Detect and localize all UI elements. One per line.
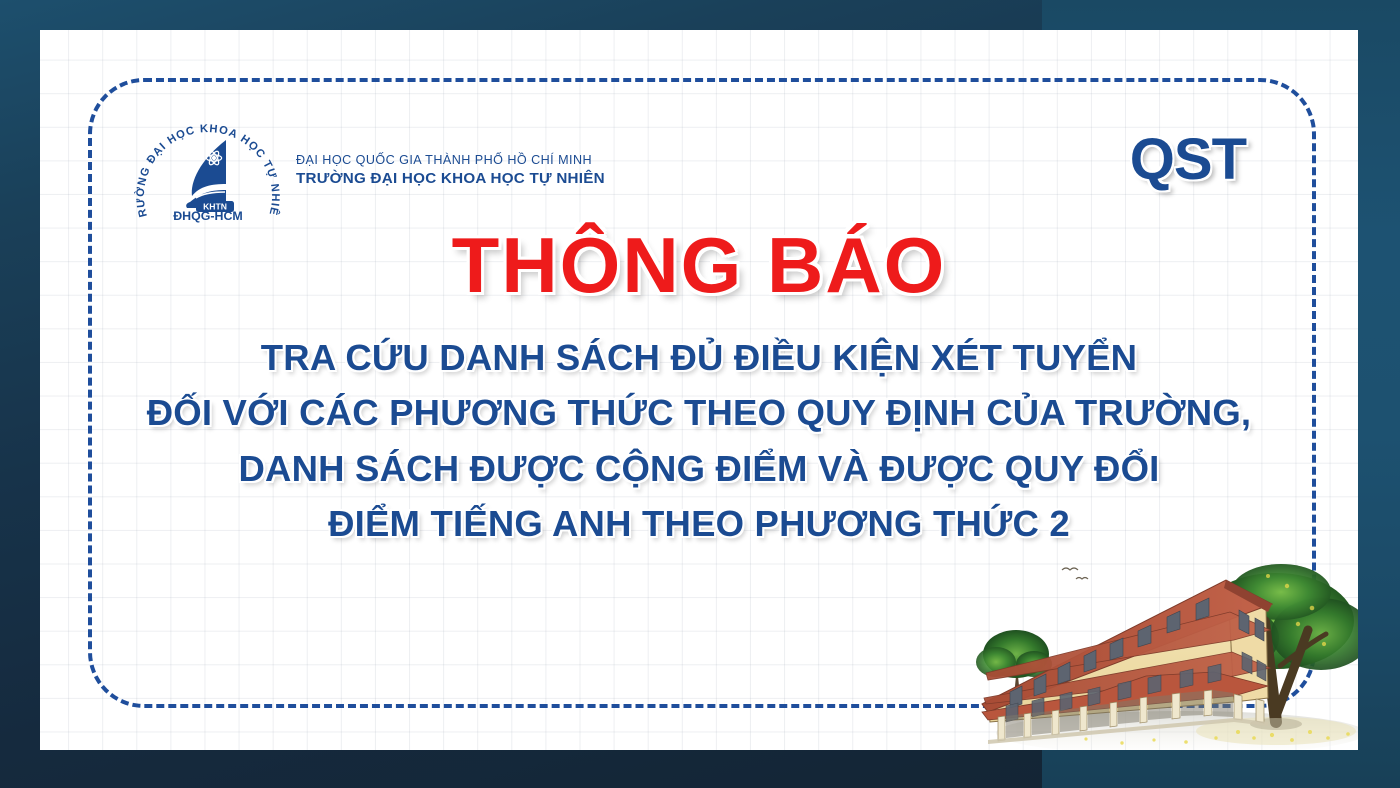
subtitle-line-2: ĐỐI VỚI CÁC PHƯƠNG THỨC THEO QUY ĐỊNH CỦ… xyxy=(40,385,1358,440)
university-logo-block: TRƯỜNG ĐẠI HỌC KHOA HỌC TỰ NHIÊN xyxy=(132,108,605,226)
seal-dhqg-label: ĐHQG-HCM xyxy=(173,209,243,223)
university-seal-icon: TRƯỜNG ĐẠI HỌC KHOA HỌC TỰ NHIÊN xyxy=(132,108,284,226)
subtitle-line-3: DANH SÁCH ĐƯỢC CỘNG ĐIỂM VÀ ĐƯỢC QUY ĐỔI xyxy=(40,441,1358,496)
announcement-subtitle: TRA CỨU DANH SÁCH ĐỦ ĐIỀU KIỆN XÉT TUYỂN… xyxy=(40,330,1358,552)
announcement-card: TRƯỜNG ĐẠI HỌC KHOA HỌC TỰ NHIÊN xyxy=(40,30,1358,750)
subtitle-line-1: TRA CỨU DANH SÁCH ĐỦ ĐIỀU KIỆN XÉT TUYỂN xyxy=(40,330,1358,385)
qst-logo: QST xyxy=(1130,126,1246,193)
university-building-illustration xyxy=(976,526,1358,750)
university-parent-org-line: ĐẠI HỌC QUỐC GIA THÀNH PHỐ HỒ CHÍ MINH xyxy=(296,152,605,169)
university-name-group: ĐẠI HỌC QUỐC GIA THÀNH PHỐ HỒ CHÍ MINH T… xyxy=(296,146,605,189)
page-title: THÔNG BÁO xyxy=(40,226,1358,304)
university-name-line: TRƯỜNG ĐẠI HỌC KHOA HỌC TỰ NHIÊN xyxy=(296,169,605,189)
birds-icon xyxy=(1062,568,1088,579)
